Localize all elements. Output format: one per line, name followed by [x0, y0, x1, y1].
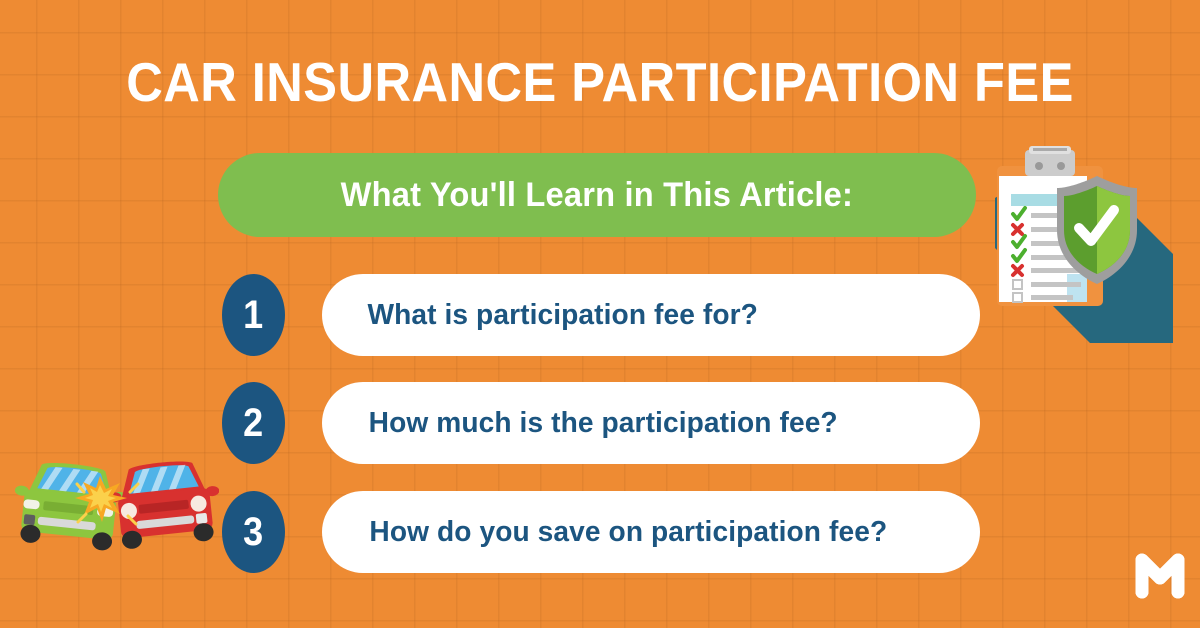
learn-banner-label: What You'll Learn in This Article:: [341, 176, 853, 215]
list-item-pill[interactable]: How do you save on participation fee?: [322, 491, 980, 573]
moneymax-m-logo[interactable]: [1134, 548, 1186, 600]
list-item-number-badge: 1: [222, 274, 285, 356]
infographic-canvas: CAR INSURANCE PARTICIPATION FEE What You…: [0, 0, 1200, 628]
page-title: CAR INSURANCE PARTICIPATION FEE: [48, 52, 1152, 112]
list-item-number-badge: 3: [222, 491, 285, 573]
list-item-number: 2: [243, 403, 263, 443]
list-item-pill[interactable]: What is participation fee for?: [322, 274, 980, 356]
list-item-number: 3: [243, 512, 263, 552]
list-item-label: How much is the participation fee?: [330, 407, 838, 440]
list-item[interactable]: 2 How much is the participation fee?: [222, 382, 980, 464]
list-item[interactable]: 1 What is participation fee for?: [222, 274, 980, 356]
list-item-pill[interactable]: How much is the participation fee?: [322, 382, 980, 464]
learn-banner: What You'll Learn in This Article:: [218, 153, 976, 237]
car-collision-icon: [14, 452, 219, 557]
list-item[interactable]: 3 How do you save on participation fee?: [222, 491, 980, 573]
list-item-label: What is participation fee for?: [329, 299, 758, 332]
list-item-number-badge: 2: [222, 382, 285, 464]
list-item-label: How do you save on participation fee?: [331, 516, 888, 549]
list-item-number: 1: [243, 295, 263, 335]
clipboard-checklist-shield-icon: [985, 138, 1190, 343]
